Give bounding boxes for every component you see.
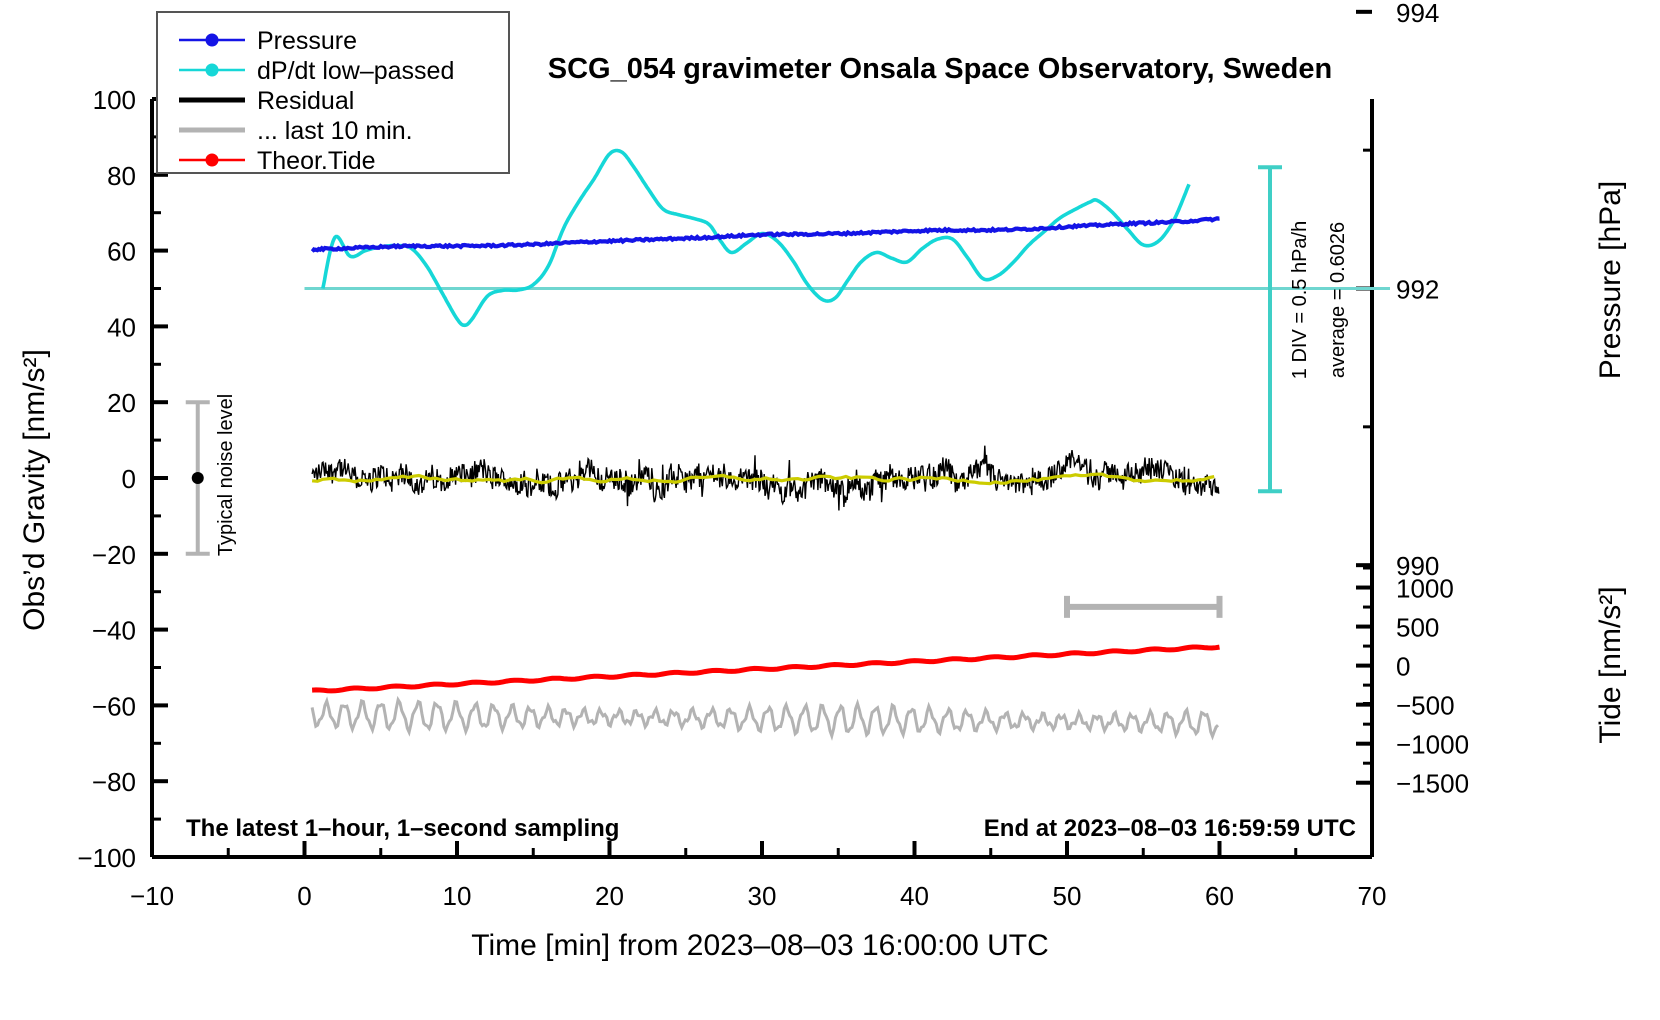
- legend-marker-dot: [206, 154, 219, 167]
- plot-canvas: −100−80−60−40−20020406080100 −1001020304…: [0, 0, 1660, 1020]
- legend-label: Pressure: [257, 27, 357, 55]
- gravimeter-chart: −100−80−60−40−20020406080100 −1001020304…: [0, 0, 1660, 1020]
- y-tick-label: −60: [92, 691, 136, 721]
- y-tick-label: 60: [107, 237, 136, 267]
- tide-tick-label: 0: [1396, 652, 1410, 682]
- right-pressure-axis-label: Pressure [hPa]: [1594, 181, 1627, 379]
- legend[interactable]: PressuredP/dt low–passedResidual... last…: [157, 12, 509, 175]
- tide-tick-label: −500: [1396, 691, 1455, 721]
- y-tick-label: 80: [107, 161, 136, 191]
- footer-left-text: The latest 1–hour, 1–second sampling: [186, 815, 619, 842]
- x-tick-label: 70: [1358, 881, 1387, 911]
- legend-label: Theor.Tide: [257, 147, 376, 175]
- right-tide-axis-label: Tide [nm/s²]: [1594, 586, 1627, 743]
- average-annotation: average = 0.6026: [1327, 222, 1349, 378]
- x-tick-label: 20: [595, 881, 624, 911]
- legend-label: dP/dt low–passed: [257, 57, 454, 85]
- x-tick-label: 30: [748, 881, 777, 911]
- footer-right-text: End at 2023–08–03 16:59:59 UTC: [984, 815, 1356, 842]
- pressure-tick-label: 992: [1396, 275, 1439, 305]
- tide-tick-label: −1000: [1396, 730, 1469, 760]
- y-tick-label: 0: [122, 464, 136, 494]
- div-scale-annotation: 1 DIV = 0.5 hPa/h: [1289, 221, 1311, 379]
- y-tick-label: −100: [77, 843, 136, 873]
- tide-tick-label: −1500: [1396, 769, 1469, 799]
- x-axis-label: Time [min] from 2023–08–03 16:00:00 UTC: [471, 929, 1049, 962]
- y-tick-label: −40: [92, 616, 136, 646]
- pressure-tick-label: 994: [1396, 0, 1439, 28]
- legend-marker-dot: [206, 64, 219, 77]
- y-tick-label: 100: [93, 85, 136, 115]
- x-tick-label: 0: [297, 881, 311, 911]
- x-tick-label: 50: [1053, 881, 1082, 911]
- tide-tick-label: 1000: [1396, 574, 1454, 604]
- legend-label: Residual: [257, 87, 354, 115]
- legend-label: ... last 10 min.: [257, 117, 413, 145]
- noise-level-annotation: Typical noise level: [215, 394, 237, 556]
- tide-tick-label: 500: [1396, 613, 1439, 643]
- x-tick-label: 10: [443, 881, 472, 911]
- y-tick-label: −20: [92, 540, 136, 570]
- x-tick-label: 60: [1205, 881, 1234, 911]
- noise-level-center-dot: [192, 472, 204, 484]
- y-tick-label: 20: [107, 388, 136, 418]
- legend-marker-dot: [206, 34, 219, 47]
- y-axis-label: Obs’d Gravity [nm/s²]: [18, 349, 51, 631]
- page-title: SCG_054 gravimeter Onsala Space Observat…: [548, 53, 1332, 85]
- y-tick-label: 40: [107, 312, 136, 342]
- x-tick-label: −10: [130, 881, 174, 911]
- y-tick-label: −80: [92, 767, 136, 797]
- x-tick-label: 40: [900, 881, 929, 911]
